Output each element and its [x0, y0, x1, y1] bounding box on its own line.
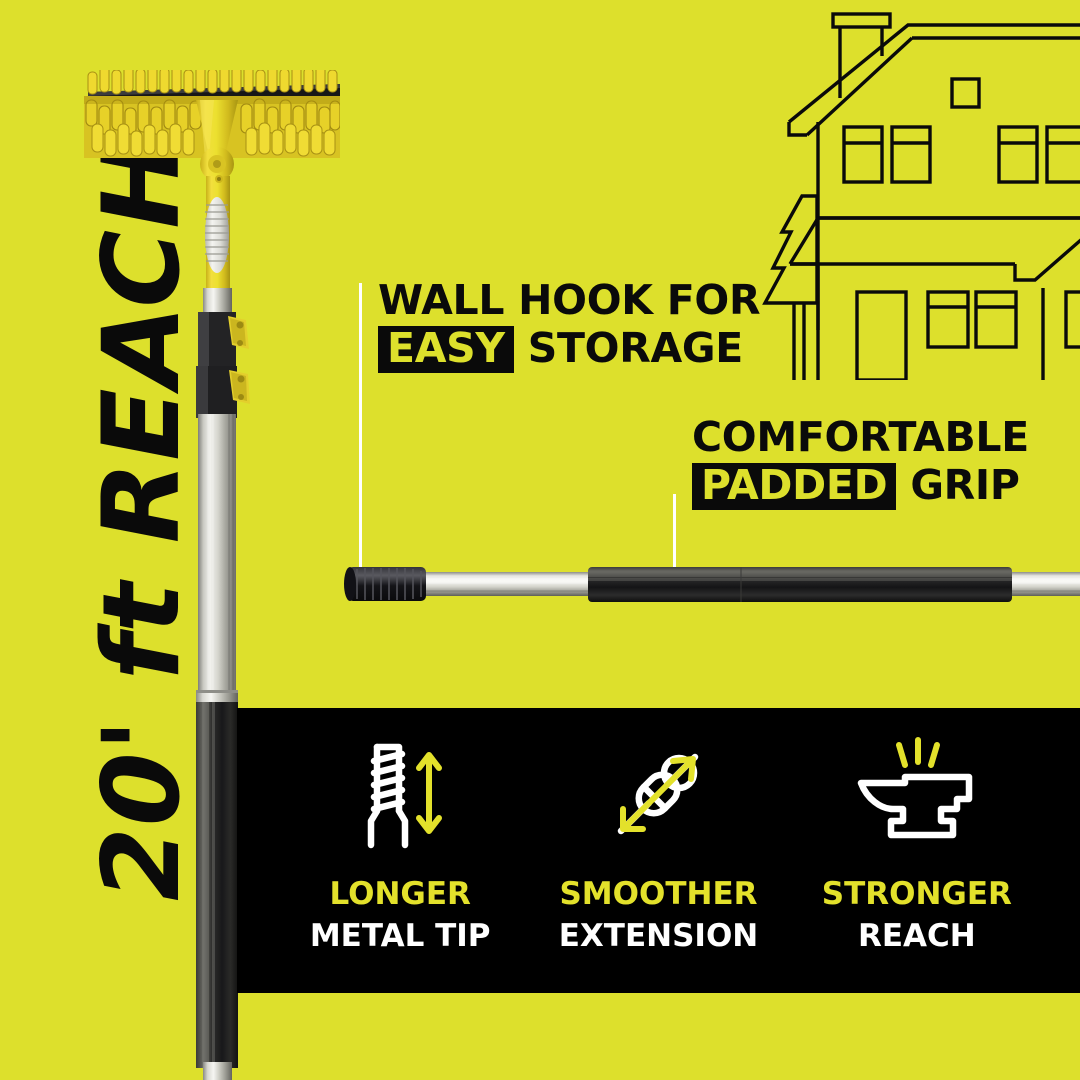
telescoping-pole-horizontal [340, 548, 1080, 628]
feature-stronger-reach: STRONGER REACH [788, 734, 1046, 954]
callout-wall-hook: WALL HOOK FOR EASY STORAGE [378, 276, 760, 373]
feature-icon-wrap [853, 734, 981, 854]
callout-padded-grip: COMFORTABLE PADDED GRIP [692, 413, 1029, 510]
anvil-strength-icon [853, 735, 981, 853]
threaded-metal-tip-icon [341, 735, 459, 853]
leader-line-wall-hook [359, 283, 362, 573]
callout-padded-grip-line1: COMFORTABLE [692, 413, 1029, 461]
feature-title: LONGER [329, 876, 470, 912]
house-line-art-icon [760, 0, 1080, 380]
feature-title: STRONGER [822, 876, 1012, 912]
feature-longer-metal-tip: LONGER METAL TIP [271, 734, 529, 954]
feature-subtitle: METAL TIP [310, 918, 491, 954]
feature-bar: LONGER METAL TIP [237, 708, 1080, 993]
infographic-canvas: 20' ft REACH [0, 0, 1080, 1080]
feature-subtitle: REACH [858, 918, 976, 954]
telescoping-extension-icon [599, 735, 717, 853]
callout-padded-grip-tail: GRIP [910, 461, 1019, 509]
callout-padded-grip-line2: PADDED GRIP [692, 461, 1029, 510]
feature-icon-wrap [599, 734, 717, 854]
feature-title: SMOOTHER [559, 876, 757, 912]
feature-smoother-extension: SMOOTHER EXTENSION [529, 734, 787, 954]
callout-wall-hook-line2: EASY STORAGE [378, 324, 760, 373]
feature-icon-wrap [341, 734, 459, 854]
callout-wall-hook-highlight: EASY [378, 326, 514, 373]
feature-subtitle: EXTENSION [559, 918, 759, 954]
callout-wall-hook-line1: WALL HOOK FOR [378, 276, 760, 324]
callout-padded-grip-highlight: PADDED [692, 463, 896, 510]
callout-wall-hook-tail: STORAGE [528, 324, 743, 372]
